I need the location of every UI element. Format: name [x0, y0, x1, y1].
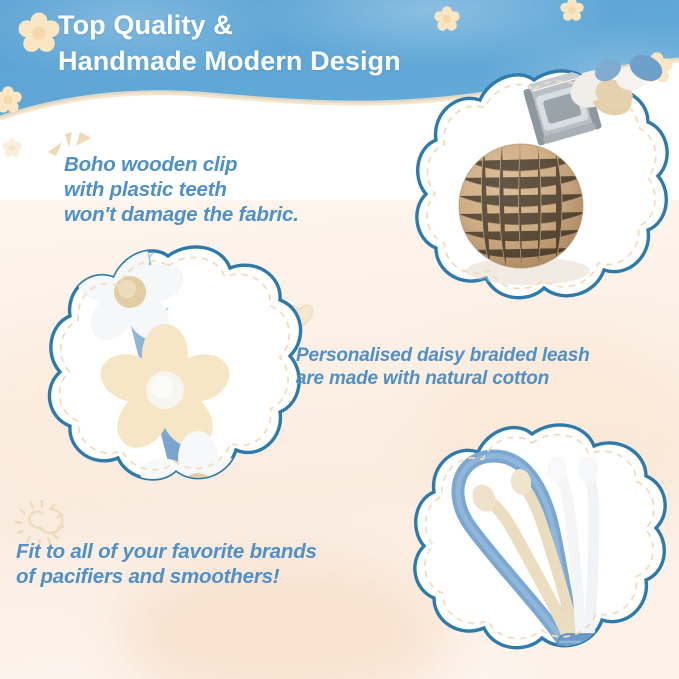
flower-icon: [2, 138, 22, 163]
flower-icon: [434, 6, 460, 37]
feature-text-leash: Personalised daisy braided leash are mad…: [296, 344, 590, 390]
feature-text-fit: Fit to all of your favorite brands of pa…: [16, 539, 317, 589]
feature-text-clip: Boho wooden clip with plastic teeth won'…: [64, 152, 299, 227]
flower-icon: [18, 12, 60, 59]
flower-icon: [560, 0, 584, 27]
photo-frame-clip: [396, 66, 672, 338]
photo-frame-leash: [394, 420, 670, 679]
flower-icon: [0, 86, 22, 119]
page-title: Top Quality & Handmade Modern Design: [58, 8, 401, 79]
photo-frame-daisy: [30, 240, 306, 526]
product-infographic: Top Quality & Handmade Modern Design: [0, 0, 679, 679]
